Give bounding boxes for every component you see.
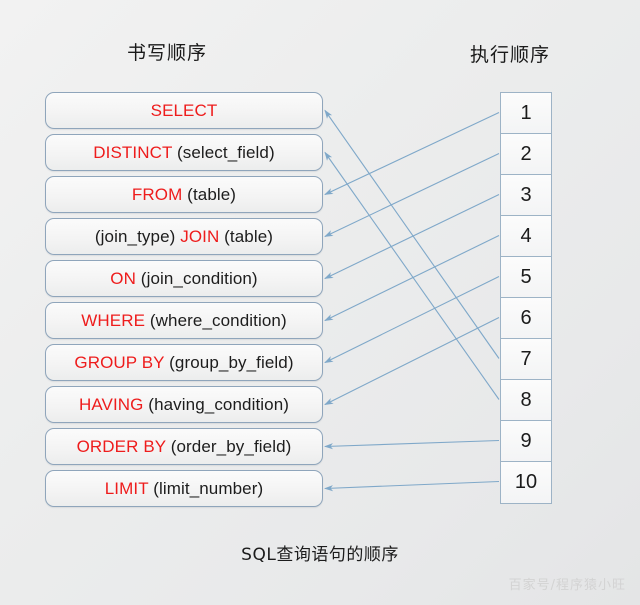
connector-line bbox=[325, 111, 499, 359]
clause-keyword: GROUP BY bbox=[74, 353, 164, 372]
clause-text: ORDER BY (order_by_field) bbox=[77, 437, 292, 457]
connector-line bbox=[325, 154, 499, 237]
clause-argument: (table) bbox=[182, 185, 236, 204]
clause-box: (join_type) JOIN (table) bbox=[45, 218, 323, 255]
watermark-text: 百家号/程序猿小旺 bbox=[509, 574, 626, 593]
connector-line bbox=[325, 482, 499, 489]
clause-box: GROUP BY (group_by_field) bbox=[45, 344, 323, 381]
execution-number-cell: 1 bbox=[501, 93, 551, 134]
writing-order-heading: 书写顺序 bbox=[127, 38, 207, 65]
clause-argument: (group_by_field) bbox=[164, 353, 293, 372]
connector-line bbox=[325, 113, 499, 195]
execution-number-cell: 5 bbox=[501, 257, 551, 298]
clause-text: DISTINCT (select_field) bbox=[93, 143, 275, 163]
execution-number-cell: 7 bbox=[501, 339, 551, 380]
clause-text: SELECT bbox=[151, 101, 218, 121]
clause-argument: (order_by_field) bbox=[166, 437, 291, 456]
clause-keyword: WHERE bbox=[81, 311, 145, 330]
clause-box: WHERE (where_condition) bbox=[45, 302, 323, 339]
clause-argument: (join_condition) bbox=[136, 269, 258, 288]
clause-keyword: ORDER BY bbox=[77, 437, 166, 456]
connector-line bbox=[325, 318, 499, 405]
clause-text: ON (join_condition) bbox=[110, 269, 257, 289]
connector-line bbox=[325, 153, 499, 400]
connector-line bbox=[325, 236, 499, 321]
clause-box: LIMIT (limit_number) bbox=[45, 470, 323, 507]
clause-argument: (where_condition) bbox=[145, 311, 287, 330]
clause-keyword: FROM bbox=[132, 185, 182, 204]
diagram-caption: SQL查询语句的顺序 bbox=[0, 540, 640, 565]
connector-line bbox=[325, 441, 499, 447]
execution-number-cell: 2 bbox=[501, 134, 551, 175]
clause-text: HAVING (having_condition) bbox=[79, 395, 289, 415]
clause-text: WHERE (where_condition) bbox=[81, 311, 286, 331]
clause-box: ORDER BY (order_by_field) bbox=[45, 428, 323, 465]
clause-keyword: JOIN bbox=[180, 227, 219, 246]
clause-text: LIMIT (limit_number) bbox=[105, 479, 264, 499]
clause-argument: (select_field) bbox=[172, 143, 275, 162]
clause-keyword: SELECT bbox=[151, 101, 218, 120]
clause-keyword: ON bbox=[110, 269, 136, 288]
execution-number-column: 12345678910 bbox=[500, 92, 552, 504]
clause-box: SELECT bbox=[45, 92, 323, 129]
clause-keyword: DISTINCT bbox=[93, 143, 172, 162]
clause-text: (join_type) JOIN (table) bbox=[95, 227, 273, 247]
clause-argument: (table) bbox=[219, 227, 273, 246]
clause-text: FROM (table) bbox=[132, 185, 236, 205]
connector-line bbox=[325, 195, 499, 279]
execution-number-cell: 6 bbox=[501, 298, 551, 339]
connector-line bbox=[325, 277, 499, 363]
clause-box-list: SELECTDISTINCT (select_field)FROM (table… bbox=[45, 92, 323, 512]
clause-keyword: LIMIT bbox=[105, 479, 149, 498]
execution-number-cell: 3 bbox=[501, 175, 551, 216]
clause-argument: (having_condition) bbox=[143, 395, 289, 414]
clause-argument: (limit_number) bbox=[148, 479, 263, 498]
execution-number-cell: 10 bbox=[501, 462, 551, 503]
execution-number-cell: 9 bbox=[501, 421, 551, 462]
clause-box: FROM (table) bbox=[45, 176, 323, 213]
clause-box: HAVING (having_condition) bbox=[45, 386, 323, 423]
clause-box: ON (join_condition) bbox=[45, 260, 323, 297]
clause-box: DISTINCT (select_field) bbox=[45, 134, 323, 171]
execution-number-cell: 8 bbox=[501, 380, 551, 421]
execution-order-heading: 执行顺序 bbox=[470, 40, 550, 67]
execution-number-cell: 4 bbox=[501, 216, 551, 257]
clause-text: GROUP BY (group_by_field) bbox=[74, 353, 293, 373]
clause-keyword: HAVING bbox=[79, 395, 144, 414]
